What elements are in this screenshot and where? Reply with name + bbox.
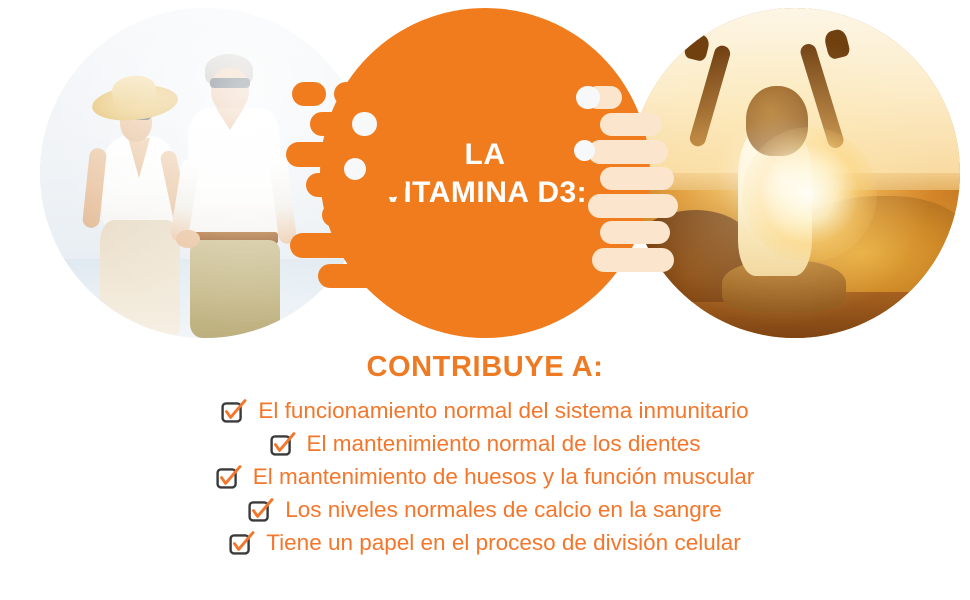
photo-circle-woman-sunset: [630, 8, 960, 338]
pixel-bar-left-6: [322, 203, 406, 227]
pixel-bar-left-2: [334, 82, 404, 106]
list-item: El funcionamiento normal del sistema inm…: [0, 398, 970, 424]
pixel-bar-right-5: [588, 194, 678, 218]
pixel-bar-left-1: [292, 82, 326, 106]
benefits-section: CONTRIBUYE A: El funcionamiento normal d…: [0, 345, 970, 563]
pixel-bar-right-6: [600, 221, 670, 244]
benefit-label: El mantenimiento de huesos y la función …: [253, 464, 755, 489]
list-item: El mantenimiento de huesos y la función …: [0, 464, 970, 490]
benefit-label: Tiene un papel en el proceso de división…: [266, 530, 740, 555]
checkbox-checked-icon: [216, 464, 242, 490]
pixel-bar-left-8: [318, 264, 406, 288]
benefit-label: El mantenimiento normal de los dientes: [307, 431, 701, 456]
list-item: Los niveles normales de calcio en la san…: [0, 497, 970, 523]
benefit-label: Los niveles normales de calcio en la san…: [285, 497, 722, 522]
list-item: El mantenimiento normal de los dientes: [0, 431, 970, 457]
hero-banner: LA VITAMINA D3:: [0, 0, 970, 345]
pixel-bar-right-3: [588, 140, 668, 164]
pixel-dot-right-1: [576, 86, 600, 109]
sunset-haze: [630, 8, 960, 338]
pixel-bar-left-7: [290, 233, 406, 258]
checkbox-checked-icon: [270, 431, 296, 457]
pixel-bar-right-2: [600, 113, 662, 136]
list-item: Tiene un papel en el proceso de división…: [0, 530, 970, 556]
pixel-bar-right-7: [592, 248, 674, 272]
benefit-label: El funcionamiento normal del sistema inm…: [258, 398, 748, 423]
pixel-dot-left-2: [344, 158, 366, 180]
checkbox-checked-icon: [248, 497, 274, 523]
pixel-dot-right-2: [574, 140, 595, 161]
pixel-dot-left-1: [352, 112, 377, 136]
checkbox-checked-icon: [229, 530, 255, 556]
benefits-list: El funcionamiento normal del sistema inm…: [0, 398, 970, 556]
section-heading: CONTRIBUYE A:: [0, 351, 970, 384]
checkbox-checked-icon: [221, 398, 247, 424]
pixel-bar-right-4: [600, 167, 674, 190]
